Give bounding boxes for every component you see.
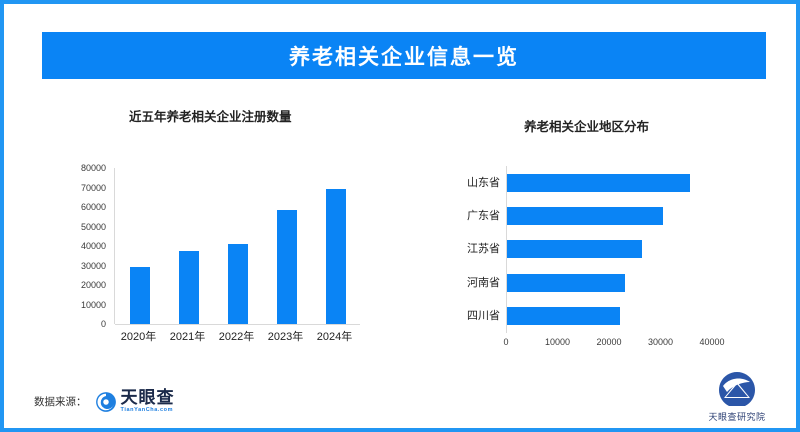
bar-chart-y-tick: 山东省: [424, 174, 500, 192]
bar-chart-row: [507, 174, 713, 192]
column-chart-bars: [115, 168, 360, 324]
page-title: 养老相关企业信息一览: [289, 41, 519, 71]
bar-chart-y-tick: 江苏省: [424, 240, 500, 258]
column-chart-y-tick: 40000: [81, 241, 106, 251]
column-chart-x-tick: 2021年: [170, 328, 205, 344]
tianyancha-swirl-icon: [95, 391, 117, 413]
column-chart-y-tick: 30000: [81, 261, 106, 271]
bar-chart-x-tick: 10000: [545, 337, 570, 347]
page-title-banner: 养老相关企业信息一览: [42, 32, 766, 79]
tianyancha-logo-cn: 天眼查: [121, 389, 175, 406]
bar-chart-row: [507, 207, 713, 225]
column-chart-x-tick: 2023年: [268, 328, 303, 344]
column-bar: [277, 210, 297, 324]
infographic-page: 养老相关企业信息一览 近五年养老相关企业注册数量 010000200003000…: [0, 0, 800, 432]
column-chart-x-tick: 2024年: [317, 328, 352, 344]
bar-chart-row: [507, 307, 713, 325]
tianyancha-logo-en: TianYanCha.com: [121, 406, 175, 414]
bar-chart-y-axis: 山东省广东省江苏省河南省四川省: [424, 166, 500, 333]
column-bar: [228, 244, 248, 324]
bar-chart-x-tick: 0: [503, 337, 508, 347]
column-chart-plot-area: [114, 168, 360, 324]
horizontal-bar: [507, 174, 690, 192]
column-bar: [130, 267, 150, 324]
bar-chart-x-tick: 20000: [596, 337, 621, 347]
panel-region-distribution: 养老相关企业地区分布 山东省广东省江苏省河南省四川省 0100002000030…: [424, 94, 774, 349]
horizontal-bar: [507, 274, 625, 292]
bar-chart-y-tick: 四川省: [424, 307, 500, 325]
column-chart-y-axis: 0100002000030000400005000060000700008000…: [44, 160, 106, 332]
tianyancha-logo-words: 天眼查 TianYanCha.com: [121, 389, 175, 414]
bar-chart-plot-area: [506, 166, 713, 333]
column-chart-y-tick: 20000: [81, 280, 106, 290]
column-chart-y-tick: 60000: [81, 202, 106, 212]
column-chart-x-axis: 2020年2021年2022年2023年2024年: [114, 328, 359, 344]
column-chart-y-tick: 10000: [81, 300, 106, 310]
panel-registration-trend: 近五年养老相关企业注册数量 01000020000300004000050000…: [44, 94, 414, 349]
horizontal-bar: [507, 207, 663, 225]
research-institute-emblem-icon: [717, 370, 757, 408]
horizontal-bar: [507, 240, 642, 258]
column-chart-y-tick: 80000: [81, 163, 106, 173]
column-bar: [179, 251, 199, 324]
bar-chart-x-tick: 40000: [699, 337, 724, 347]
column-chart-y-tick: 70000: [81, 183, 106, 193]
research-institute-brand: 天眼查研究院: [694, 370, 780, 423]
column-chart-baseline: [115, 324, 360, 325]
research-institute-name: 天眼查研究院: [708, 410, 765, 423]
data-source: 数据来源： 天眼查 TianYanCha.com: [34, 389, 175, 414]
column-bar: [326, 189, 346, 324]
bar-chart-y-tick: 河南省: [424, 274, 500, 292]
bar-chart-row: [507, 240, 713, 258]
horizontal-bar: [507, 307, 620, 325]
bar-chart-row: [507, 274, 713, 292]
bar-chart-region: 山东省广东省江苏省河南省四川省 010000200003000040000: [424, 94, 774, 349]
column-chart-registration: 0100002000030000400005000060000700008000…: [44, 94, 414, 349]
bar-chart-x-tick: 30000: [648, 337, 673, 347]
column-chart-x-tick: 2020年: [121, 328, 156, 344]
tianyancha-logo: 天眼查 TianYanCha.com: [95, 389, 175, 414]
bar-chart-x-axis: 010000200003000040000: [506, 337, 712, 351]
column-chart-y-tick: 0: [101, 319, 106, 329]
column-chart-y-tick: 50000: [81, 222, 106, 232]
column-chart-x-tick: 2022年: [219, 328, 254, 344]
bar-chart-bars: [507, 166, 713, 333]
data-source-label: 数据来源：: [34, 394, 87, 409]
bar-chart-y-tick: 广东省: [424, 207, 500, 225]
